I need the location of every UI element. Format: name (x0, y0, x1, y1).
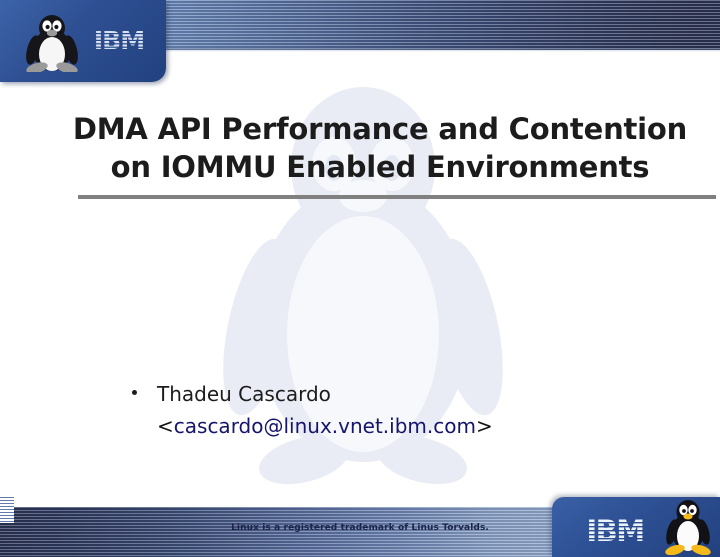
title-separator-rule (78, 195, 716, 199)
list-item: Thadeu Cascardo <cascardo@linux.vnet.ibm… (130, 378, 690, 442)
ibm-wordmark-icon: IBM (574, 515, 656, 545)
slide-body: Thadeu Cascardo <cascardo@linux.vnet.ibm… (130, 378, 690, 442)
bullet-marker-icon (132, 390, 137, 395)
slide-title-line-1: DMA API Performance and Contention (73, 112, 687, 146)
brand-logo-bottom-right: IBM (552, 497, 720, 557)
svg-text:IBM: IBM (586, 515, 643, 545)
tux-penguin-icon (24, 14, 80, 72)
email-close-bracket: > (476, 414, 493, 438)
svg-text:IBM: IBM (94, 27, 144, 53)
tux-penguin-icon (664, 499, 712, 555)
author-email[interactable]: cascardo@linux.vnet.ibm.com (174, 414, 476, 438)
author-email-line: <cascardo@linux.vnet.ibm.com> (157, 410, 690, 442)
email-open-bracket: < (157, 414, 174, 438)
ibm-wordmark-icon: IBM (88, 27, 150, 53)
brand-logo-top-left: IBM (0, 0, 166, 82)
slide-title-line-2: on IOMMU Enabled Environments (111, 150, 650, 184)
presentation-slide: IBM DMA API Performance and Contention o… (0, 0, 720, 557)
slide-title: DMA API Performance and Contention on IO… (40, 110, 720, 186)
footer-corner-stripes (0, 497, 14, 523)
author-name: Thadeu Cascardo (157, 378, 690, 410)
